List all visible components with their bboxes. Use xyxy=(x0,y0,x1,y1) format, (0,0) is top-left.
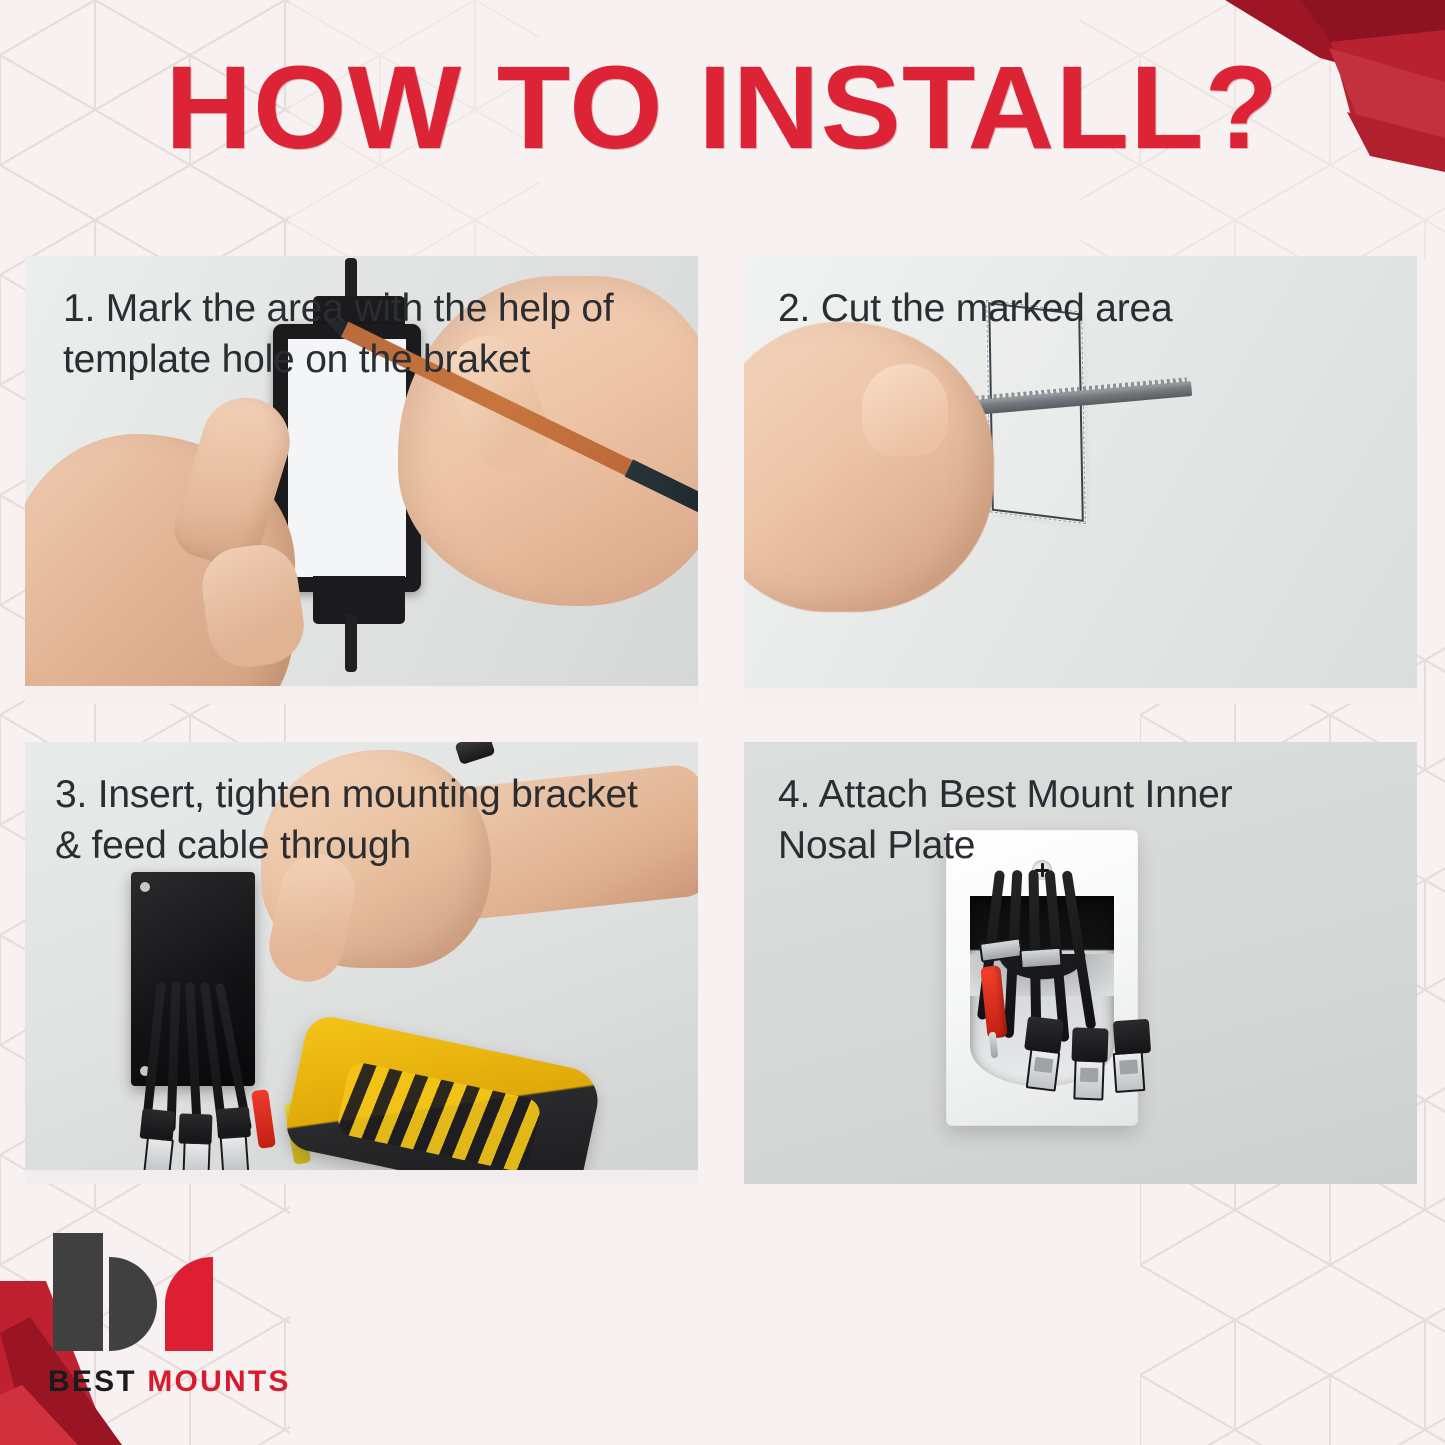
logo-bar-shape xyxy=(53,1233,103,1351)
usb-connector-tip xyxy=(1026,1048,1061,1091)
step-3-caption: 3. Insert, tighten mounting bracket & fe… xyxy=(55,770,638,871)
usb-connector-shell xyxy=(178,1113,212,1144)
rca-connector-red xyxy=(980,965,1007,1039)
cable-bundle xyxy=(976,870,1156,1160)
usb-connector-tip xyxy=(220,1135,250,1175)
floor-strip xyxy=(25,686,698,704)
cable xyxy=(185,982,202,1132)
infographic-canvas: HOW TO INSTALL? 1. Mark xyxy=(0,0,1445,1445)
usb-connector-shell xyxy=(140,1108,176,1141)
rca-connector-red xyxy=(251,1089,276,1149)
bracket-bottom-tab xyxy=(313,576,405,624)
cable xyxy=(166,982,180,1132)
usb-connector-shell xyxy=(1113,1019,1151,1055)
page-title-text: HOW TO INSTALL? xyxy=(166,48,1280,168)
hdmi-connector xyxy=(1019,947,1062,970)
knuckles xyxy=(862,364,948,456)
step-4-caption: 4. Attach Best Mount Inner Nosal Plate xyxy=(778,770,1232,871)
usb-connector-tip xyxy=(1073,1059,1104,1100)
usb-connector-shell xyxy=(1071,1027,1108,1062)
logo-b-shape xyxy=(109,1257,157,1351)
logo-mark-icon xyxy=(53,1233,245,1351)
step-panel-1: 1. Mark the area with the help of templa… xyxy=(25,256,698,704)
page-title: HOW TO INSTALL? xyxy=(0,48,1445,168)
usb-connector-tip xyxy=(1113,1051,1146,1093)
step-1-caption: 1. Mark the area with the help of templa… xyxy=(63,284,614,385)
floor-strip xyxy=(744,688,1417,704)
logo-m-shape xyxy=(165,1257,213,1351)
floor-strip xyxy=(25,1170,698,1184)
step-panel-2: 2. Cut the marked area xyxy=(744,256,1417,704)
logo-word-best: BEST xyxy=(48,1365,137,1398)
logo-word-mounts: MOUNTS xyxy=(147,1365,290,1398)
step-panel-4: 4. Attach Best Mount Inner Nosal Plate xyxy=(744,742,1417,1184)
cable-bundle xyxy=(143,982,293,1182)
cable xyxy=(1062,870,1097,1030)
brand-logo: BEST MOUNTS xyxy=(48,1233,291,1399)
step-2-caption: 2. Cut the marked area xyxy=(778,284,1172,335)
steps-grid: 1. Mark the area with the help of templa… xyxy=(25,256,1417,1184)
logo-wordmark: BEST MOUNTS xyxy=(48,1365,291,1399)
usb-connector-shell xyxy=(216,1107,251,1139)
bracket-bottom-stem xyxy=(345,614,357,672)
step-panel-3: 3. Insert, tighten mounting bracket & fe… xyxy=(25,742,698,1184)
